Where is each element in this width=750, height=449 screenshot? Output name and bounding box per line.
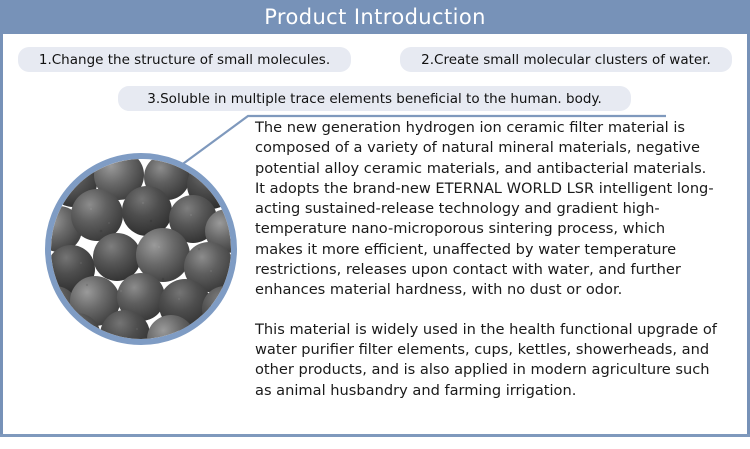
page-title: Product Introduction bbox=[0, 0, 750, 34]
benefit-pill-2: 2.Create small molecular clusters of wat… bbox=[400, 47, 732, 72]
benefit-pill-1: 1.Change the structure of small molecule… bbox=[18, 47, 351, 72]
bottom-divider bbox=[0, 434, 750, 437]
left-border-rail bbox=[0, 34, 3, 437]
ceramic-balls-illustration bbox=[51, 159, 231, 339]
ceramic-balls-photo bbox=[45, 153, 237, 345]
description-paragraph-2: This material is widely used in the heal… bbox=[255, 320, 717, 401]
benefit-pill-3: 3.Soluble in multiple trace elements ben… bbox=[118, 86, 631, 111]
description-text-block: The new generation hydrogen ion ceramic … bbox=[255, 118, 717, 401]
product-introduction-card: Product Introduction 1.Change the struct… bbox=[0, 0, 750, 449]
description-paragraph-1: The new generation hydrogen ion ceramic … bbox=[255, 118, 717, 301]
